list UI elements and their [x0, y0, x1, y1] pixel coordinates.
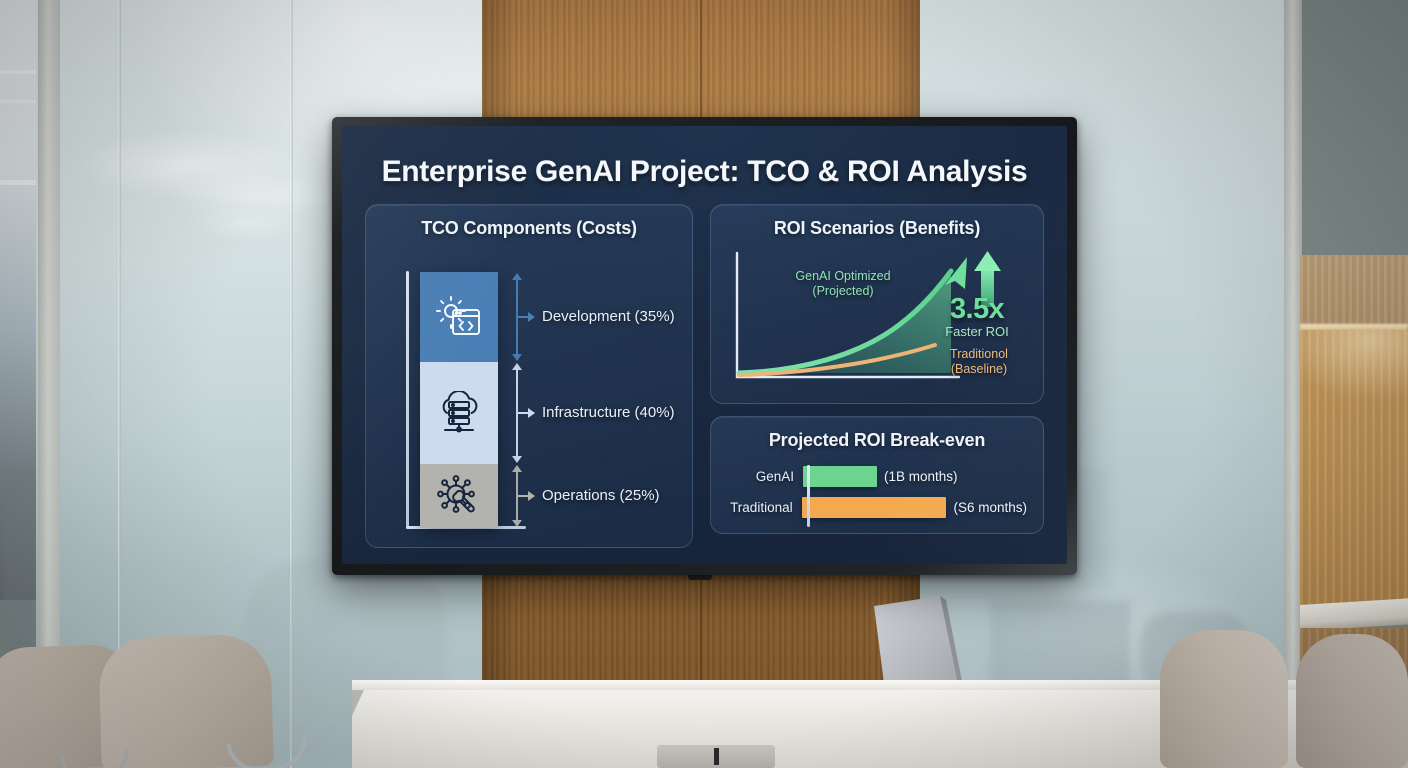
roi-line-chart: GenAI Optimized (Projected) Traditionol … — [727, 245, 1027, 395]
wall-mounted-display: Enterprise GenAI Project: TCO & ROI Anal… — [332, 117, 1077, 575]
genai-optimized-label: GenAI Optimized (Projected) — [783, 269, 903, 299]
network-wrench-icon — [436, 474, 482, 518]
breakeven-bar — [803, 466, 877, 487]
breakeven-row-traditional: Traditional (S6 months) — [727, 494, 1027, 521]
breakeven-y-axis — [807, 465, 810, 527]
label-pointer-arrow — [518, 316, 534, 318]
page-title: Enterprise GenAI Project: TCO & ROI Anal… — [342, 126, 1067, 189]
breakeven-row-genai: GenAI (1B months) — [727, 463, 1027, 490]
label-pointer-arrow — [518, 412, 534, 414]
traditional-baseline-label: Traditionol (Baseline) — [933, 347, 1025, 377]
table-cable-grommet — [657, 745, 775, 768]
breakeven-row-value: (S6 months) — [953, 500, 1027, 515]
tco-column: TCO Components (Costs) — [365, 204, 693, 548]
tco-segment-development — [420, 272, 498, 362]
ceiling-light-strip — [0, 180, 38, 185]
breakeven-card-title: Projected ROI Break-even — [711, 417, 1043, 457]
gear-code-icon — [436, 296, 482, 338]
breakeven-card: Projected ROI Break-even GenAI (1B month… — [710, 416, 1044, 534]
tco-components-card: TCO Components (Costs) — [365, 204, 693, 548]
tco-segment-operations — [420, 464, 498, 528]
roi-multiplier-callout: 3.5x Faster ROI — [933, 293, 1021, 339]
tco-card-title: TCO Components (Costs) — [366, 205, 692, 245]
roi-card-title: ROI Scenarios (Benefits) — [711, 205, 1043, 245]
presentation-slide: Enterprise GenAI Project: TCO & ROI Anal… — [342, 126, 1067, 564]
conference-chair — [1296, 634, 1408, 768]
conference-chair — [1160, 630, 1288, 768]
tco-stacked-bar — [420, 272, 498, 528]
credenza-countertop — [1300, 598, 1408, 631]
ceiling-light-strip — [0, 100, 38, 103]
breakeven-row-label: GenAI — [727, 469, 803, 484]
breakeven-row-value: (1B months) — [884, 469, 958, 484]
tco-segment-label: Infrastructure (40%) — [542, 404, 675, 421]
roi-scenarios-card: ROI Scenarios (Benefits) — [710, 204, 1044, 404]
roi-column: ROI Scenarios (Benefits) — [710, 204, 1044, 548]
label-pointer-arrow — [518, 495, 534, 497]
breakeven-bar — [802, 497, 947, 518]
tco-segment-infrastructure — [420, 362, 498, 464]
breakeven-bar-chart: GenAI (1B months) Traditional (S6 months… — [727, 463, 1027, 521]
tco-stacked-bar-chart: Development (35%) Infrastructure (40%) O… — [380, 245, 678, 533]
breakeven-row-label: Traditional — [727, 500, 802, 515]
upper-cabinet — [1300, 255, 1408, 327]
tco-y-axis — [406, 271, 409, 527]
ceiling-light-strip — [0, 70, 38, 74]
roi-multiplier-caption: Faster ROI — [933, 324, 1021, 339]
slide-panels: TCO Components (Costs) — [342, 189, 1067, 548]
cloud-server-icon — [434, 391, 484, 435]
wood-wall-panel-right — [1300, 330, 1408, 620]
tco-segment-label: Operations (25%) — [542, 487, 660, 504]
roi-multiplier-value: 3.5x — [933, 293, 1021, 326]
tco-segment-label: Development (35%) — [542, 308, 675, 325]
